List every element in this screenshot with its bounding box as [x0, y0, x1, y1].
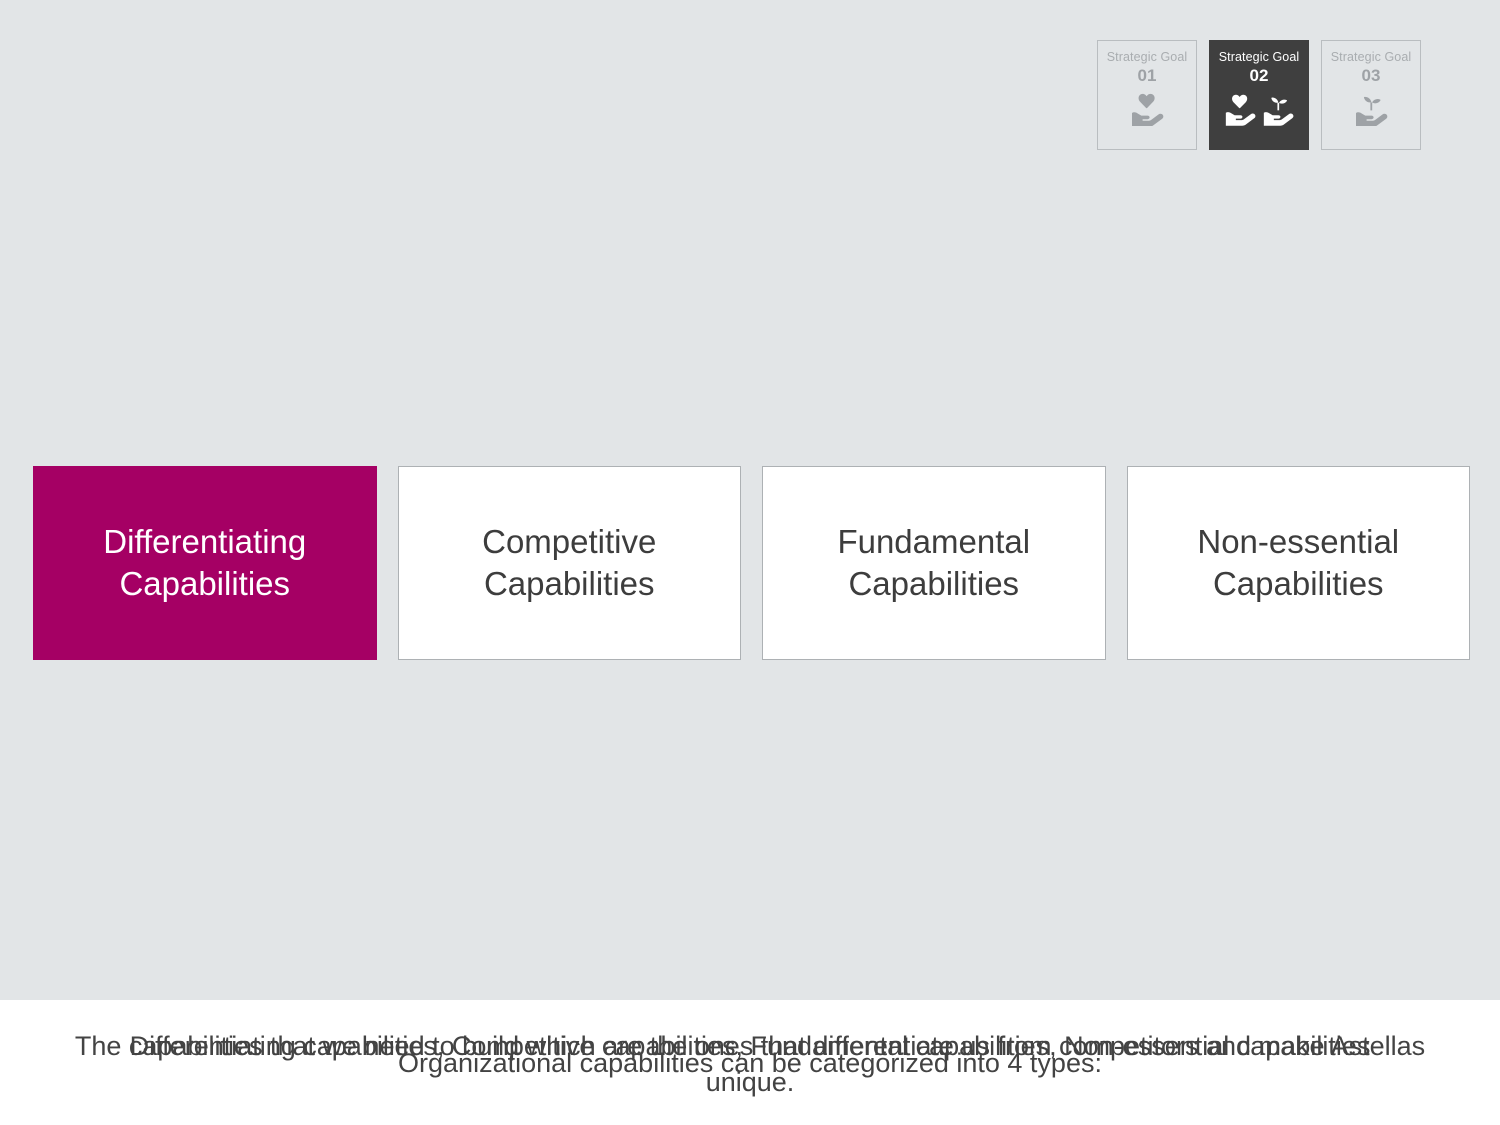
capability-box-text: Fundamental Capabilities [837, 521, 1030, 605]
strategic-goal-number: 01 [1138, 66, 1157, 86]
caption-area: The capabilities that we need to build w… [0, 1000, 1500, 1125]
hand-sprout-icon [1353, 92, 1389, 126]
capability-box-non-essential[interactable]: Non-essential Capabilities [1127, 466, 1471, 660]
capability-box-competitive[interactable]: Competitive Capabilities [398, 466, 742, 660]
strategic-goal-number: 03 [1362, 66, 1381, 86]
strategic-goal-number: 02 [1250, 66, 1269, 86]
capability-box-text: Non-essential Capabilities [1197, 521, 1399, 605]
strategic-goal-label: Strategic Goal [1107, 51, 1188, 65]
capability-line-2: Capabilities [484, 565, 655, 602]
capability-box-fundamental[interactable]: Fundamental Capabilities [762, 466, 1106, 660]
strategic-goal-tile-group: Strategic Goal 01 Strategic Goal 02 [1097, 40, 1421, 150]
capability-line-1: Fundamental [837, 523, 1030, 560]
capability-box-differentiating[interactable]: Differentiating Capabilities [33, 466, 377, 660]
capability-line-1: Non-essential [1197, 523, 1399, 560]
strategic-goal-tile-02[interactable]: Strategic Goal 02 [1209, 40, 1309, 150]
hand-sprout-icon [1261, 92, 1295, 126]
hand-heart-icon [1223, 92, 1257, 126]
capability-line-2: Capabilities [848, 565, 1019, 602]
capability-box-text: Differentiating Capabilities [103, 521, 306, 605]
capability-line-1: Differentiating [103, 523, 306, 560]
slide-canvas: Strategic Goal 01 Strategic Goal 02 [0, 0, 1500, 1125]
strategic-goal-icon-group [1129, 92, 1165, 126]
strategic-goal-tile-01[interactable]: Strategic Goal 01 [1097, 40, 1197, 150]
capability-box-text: Competitive Capabilities [482, 521, 656, 605]
strategic-goal-tile-03[interactable]: Strategic Goal 03 [1321, 40, 1421, 150]
capability-line-2: Capabilities [119, 565, 290, 602]
capability-line-1: Competitive [482, 523, 656, 560]
strategic-goal-icon-group [1223, 92, 1295, 126]
strategic-goal-label: Strategic Goal [1331, 51, 1412, 65]
capability-category-row: Differentiating Capabilities Competitive… [33, 466, 1470, 660]
caption-tertiary-text: Organizational capabilities can be categ… [0, 1045, 1500, 1081]
capability-line-2: Capabilities [1213, 565, 1384, 602]
strategic-goal-icon-group [1353, 92, 1389, 126]
hand-heart-icon [1129, 92, 1165, 126]
strategic-goal-label: Strategic Goal [1219, 51, 1300, 65]
